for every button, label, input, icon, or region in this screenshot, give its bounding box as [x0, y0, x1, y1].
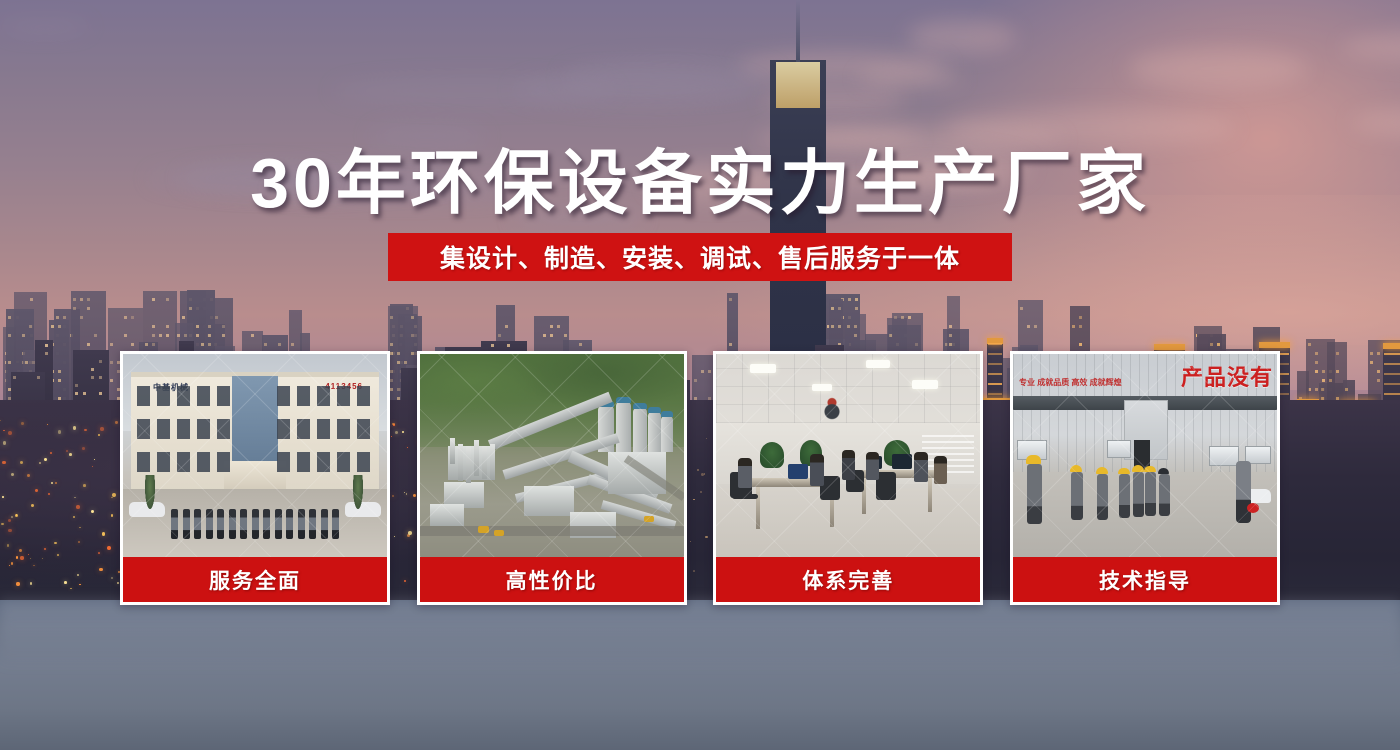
photo-person	[810, 454, 824, 486]
photo-person	[321, 509, 328, 539]
card-caption: 高性价比	[420, 557, 684, 602]
photo-silo	[648, 412, 661, 452]
photo-person	[842, 450, 855, 480]
photo-person	[194, 509, 201, 539]
photo-excavator	[478, 526, 489, 533]
photo-person	[866, 452, 879, 480]
card-photo-plant	[420, 354, 684, 557]
photo-hard-hat	[1158, 468, 1169, 474]
photo-plant-building	[430, 504, 464, 526]
skyscraper-crown-lights	[776, 62, 820, 108]
feature-card[interactable]: 体系完善	[713, 351, 983, 605]
photo-stack	[458, 444, 463, 482]
photo-red-helmet	[1247, 503, 1259, 513]
photo-person	[240, 509, 247, 539]
photo-person	[914, 452, 928, 482]
photo-worker	[1071, 472, 1083, 520]
photo-silo-cap	[648, 407, 661, 413]
card-photo-factory: 产品没有 专业 成就品质 高效 成就辉煌	[1013, 354, 1277, 557]
river-sheen	[0, 600, 1400, 670]
photo-person	[298, 509, 305, 539]
photo-chair	[876, 472, 896, 500]
card-caption: 服务全面	[123, 557, 387, 602]
subtitle-text: 集设计、制造、安装、调试、售后服务于一体	[440, 239, 960, 275]
photo-window	[1209, 446, 1239, 466]
subtitle-banner: 集设计、制造、安装、调试、售后服务于一体	[388, 233, 1012, 281]
photo-stack	[466, 446, 471, 484]
photo-road	[420, 526, 684, 536]
photo-hard-hat	[1026, 455, 1041, 464]
photo-person	[738, 458, 752, 488]
photo-hard-hat	[1132, 465, 1143, 472]
photo-silo	[633, 408, 647, 452]
photo-stack	[490, 444, 495, 479]
feature-card[interactable]: 产品没有 专业 成就品质 高效 成就辉煌 技术指导	[1010, 351, 1280, 605]
photo-ceiling-light	[750, 364, 776, 373]
photo-person	[309, 509, 316, 539]
photo-excavator	[644, 516, 654, 522]
feature-card[interactable]: 中基机械 4113456 服务全面	[120, 351, 390, 605]
photo-person	[252, 509, 259, 539]
photo-stack	[450, 438, 455, 464]
photo-desk-leg	[756, 487, 760, 529]
photo-hard-hat	[1144, 466, 1155, 472]
photo-person	[183, 509, 190, 539]
photo-staff-row	[123, 354, 387, 557]
page-title: 30年环保设备实力生产厂家	[0, 127, 1400, 228]
photo-tree-right	[353, 475, 363, 509]
photo-car-right	[345, 502, 381, 517]
photo-window	[1107, 440, 1131, 458]
photo-hard-hat	[1070, 465, 1082, 472]
photo-monitor	[892, 454, 912, 469]
photo-person	[286, 509, 293, 539]
photo-tree-left	[145, 475, 155, 509]
photo-stack	[482, 446, 487, 479]
photo-person	[934, 456, 947, 484]
card-caption: 技术指导	[1013, 557, 1277, 602]
photo-plant-building	[608, 452, 666, 494]
photo-excavator	[494, 530, 504, 536]
photo-silo-cap	[633, 403, 647, 409]
photo-workers	[1013, 354, 1277, 557]
photo-laptop	[788, 464, 808, 479]
photo-hard-hat	[1118, 468, 1129, 474]
photo-person	[275, 509, 282, 539]
feature-card[interactable]: 高性价比	[417, 351, 687, 605]
photo-person	[229, 509, 236, 539]
photo-plant-building	[524, 486, 574, 516]
photo-supervisor	[1236, 461, 1251, 523]
hero-banner: 30年环保设备实力生产厂家 集设计、制造、安装、调试、售后服务于一体 中基机械 …	[0, 0, 1400, 750]
photo-worker	[1133, 472, 1144, 517]
photo-stack	[474, 440, 479, 476]
photo-silo	[616, 402, 631, 452]
photo-ceiling-light	[866, 360, 890, 368]
photo-worker	[1119, 474, 1130, 518]
photo-silo	[661, 416, 673, 452]
photo-silo-cap	[661, 411, 673, 417]
photo-person	[217, 509, 224, 539]
photo-desk-leg	[928, 478, 932, 512]
photo-plant	[760, 442, 784, 468]
photo-desks-and-people	[716, 354, 980, 557]
photo-person	[263, 509, 270, 539]
photo-ceiling-light	[812, 384, 832, 391]
photo-person	[206, 509, 213, 539]
photo-person	[332, 509, 339, 539]
card-photo-headquarters: 中基机械 4113456	[123, 354, 387, 557]
photo-person	[171, 509, 178, 539]
photo-worker	[1159, 474, 1170, 516]
feature-card-row: 中基机械 4113456 服务全面 高性价比	[120, 351, 1280, 605]
card-photo-office	[716, 354, 980, 557]
photo-plant-structures	[420, 354, 684, 557]
photo-worker	[1097, 474, 1108, 520]
photo-worker	[1145, 472, 1156, 516]
photo-hard-hat	[1096, 467, 1107, 474]
photo-silo-cap	[616, 397, 631, 403]
photo-ceiling-light	[912, 380, 938, 389]
photo-worker	[1027, 464, 1042, 524]
photo-chair	[732, 494, 758, 499]
card-caption: 体系完善	[716, 557, 980, 602]
